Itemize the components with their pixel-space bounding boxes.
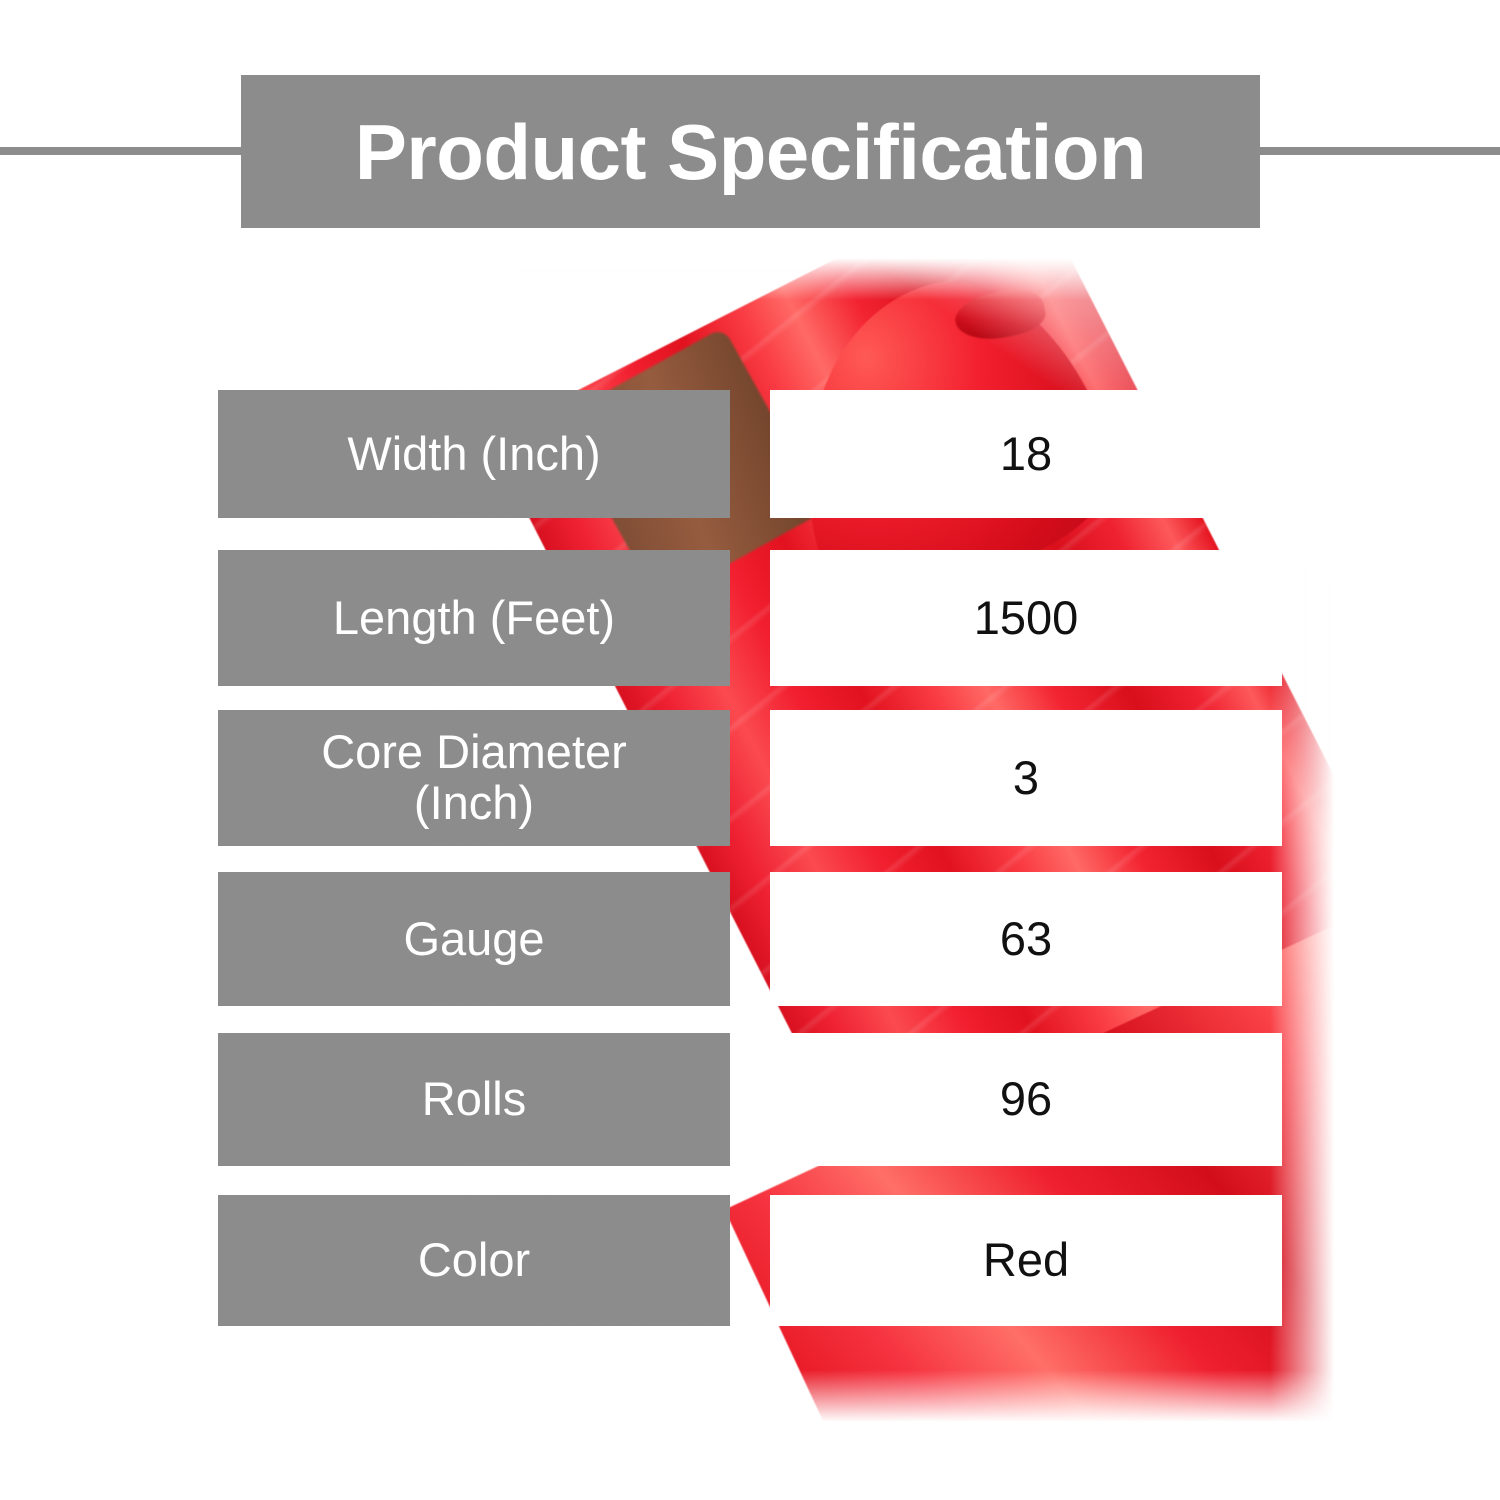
spec-value-cell: Red (770, 1195, 1282, 1326)
spec-value-cell: 18 (770, 390, 1282, 518)
spec-label-cell: Core Diameter(Inch) (218, 710, 730, 846)
spec-label-cell: Rolls (218, 1033, 730, 1166)
spec-value-cell: 3 (770, 710, 1282, 846)
spec-value-cell: 63 (770, 872, 1282, 1006)
spec-label-cell: Width (Inch) (218, 390, 730, 518)
spec-label-cell: Gauge (218, 872, 730, 1006)
spec-value-cell: 1500 (770, 550, 1282, 686)
spec-label-cell: Length (Feet) (218, 550, 730, 686)
spec-label-cell: Color (218, 1195, 730, 1326)
spec-value-cell: 96 (770, 1033, 1282, 1166)
specification-table: Width (Inch)18Length (Feet)1500Core Diam… (0, 0, 1500, 1500)
